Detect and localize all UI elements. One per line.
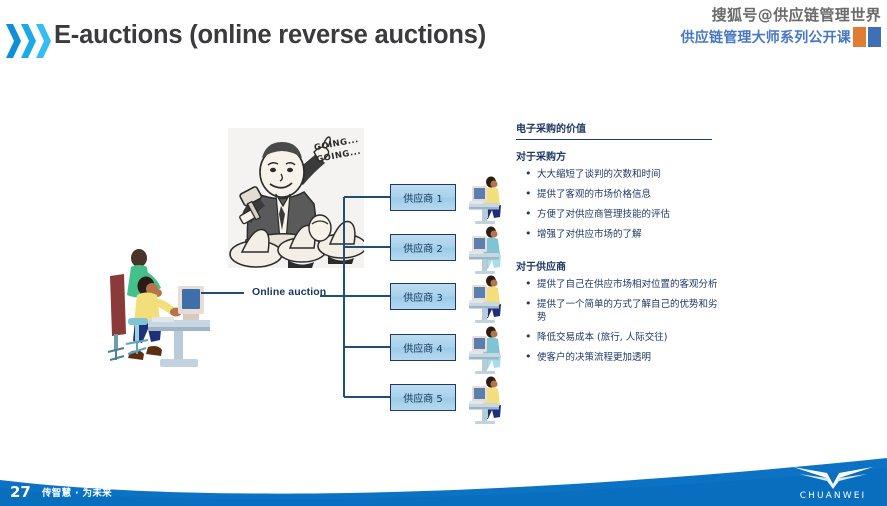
page-number: 27	[10, 483, 31, 501]
slide-footer: 27 传智慧 · 为未来 CHUANWEI	[0, 458, 887, 506]
list-item: 使客户的决策流程更加透明	[525, 351, 721, 364]
chevron-right-icon	[6, 24, 21, 58]
supplier-box-1[interactable]: 供应商 1	[390, 184, 456, 211]
supplier-person-icon	[467, 176, 509, 224]
supplier-person-icon	[467, 376, 509, 424]
supplier-section-heading: 对于供应商	[516, 258, 766, 273]
buyer-section-heading: 对于采购方	[516, 148, 766, 163]
supplier-label: 供应商 3	[403, 289, 443, 304]
supplier-person-icon	[467, 226, 509, 274]
supplier-box-2[interactable]: 供应商 2	[390, 234, 456, 261]
supplier-benefits-list: 提供了自己在供应市场相对位置的客观分析 提供了一个简单的方式了解自己的优势和劣势…	[525, 278, 766, 364]
panel-heading: 电子采购的价值	[516, 120, 766, 138]
supplier-label: 供应商 5	[403, 390, 443, 405]
chevron-right-icon	[36, 24, 51, 58]
wing-logo-icon	[789, 464, 877, 490]
supplier-box-4[interactable]: 供应商 4	[390, 334, 456, 361]
slide-canvas: E-auctions (online reverse auctions) 搜狐号…	[0, 0, 887, 506]
buyer-benefits-list: 大大缩短了谈判的次数和时间 提供了客观的市场价格信息 方便了对供应商管理技能的评…	[525, 168, 766, 241]
list-item: 提供了自己在供应市场相对位置的客观分析	[525, 278, 721, 291]
list-item: 大大缩短了谈判的次数和时间	[525, 168, 766, 181]
supplier-label: 供应商 1	[403, 190, 443, 205]
list-item: 提供了一个简单的方式了解自己的优势和劣势	[525, 298, 721, 324]
watermark-line-1: 搜狐号@供应链管理世界	[681, 4, 881, 25]
list-item: 方便了对供应商管理技能的评估	[525, 208, 766, 221]
watermark: 搜狐号@供应链管理世界 供应链管理大师系列公开课	[681, 4, 881, 47]
slide-header: E-auctions (online reverse auctions) 搜狐号…	[0, 0, 887, 72]
supplier-box-3[interactable]: 供应商 3	[390, 283, 456, 310]
value-panel: 电子采购的价值 对于采购方 大大缩短了谈判的次数和时间 提供了客观的市场价格信息…	[516, 120, 766, 371]
chevron-right-icon	[21, 24, 36, 58]
connector-lines	[200, 170, 400, 420]
chevron-group-icon	[6, 24, 52, 58]
list-item: 增强了对供应市场的了解	[525, 228, 766, 241]
watermark-orange-square-icon	[853, 27, 866, 47]
list-item: 提供了客观的市场价格信息	[525, 188, 766, 201]
page-title: E-auctions (online reverse auctions)	[54, 21, 486, 50]
watermark-blue-square-icon	[868, 27, 881, 47]
supplier-label: 供应商 2	[403, 240, 443, 255]
footer-slogan: 传智慧 · 为未来	[42, 485, 112, 499]
panel-divider	[516, 139, 712, 140]
brand-name: CHUANWEI	[789, 491, 877, 501]
chuanwei-logo: CHUANWEI	[789, 464, 877, 502]
watermark-line-2: 供应链管理大师系列公开课	[681, 27, 851, 47]
list-item: 降低交易成本 (旅行, 人际交往)	[525, 331, 721, 344]
supplier-person-icon	[467, 326, 509, 374]
supplier-person-icon	[467, 275, 509, 323]
supplier-box-5[interactable]: 供应商 5	[390, 384, 456, 411]
supplier-label: 供应商 4	[403, 340, 443, 355]
